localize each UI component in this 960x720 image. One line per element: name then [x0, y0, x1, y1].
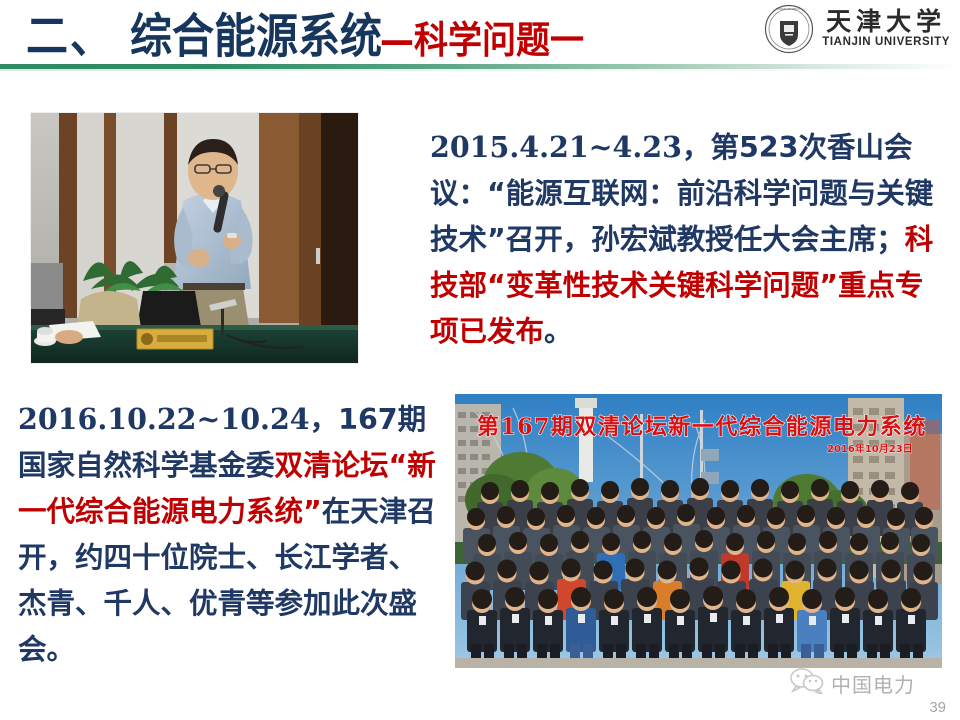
- title-subtitle-text: —科学问题一: [380, 10, 584, 64]
- university-seal-icon: TIANJIN UNIVERSITY: [764, 4, 814, 54]
- university-logo: TIANJIN UNIVERSITY 天津大学 TIANJIN UNIVERSI…: [764, 4, 950, 54]
- university-name-cn: 天津大学: [826, 9, 946, 34]
- svg-text:TIANJIN UNIVERSITY: TIANJIN UNIVERSITY: [776, 7, 802, 11]
- left-text-navy-segment-a: 自然科学基金委: [75, 449, 275, 482]
- group-photo: 第167期双清论坛新一代综合能源电力系统 2016年10月23日: [455, 394, 942, 668]
- wechat-label: 中国电力: [831, 669, 915, 698]
- wechat-watermark: 中国电力: [790, 668, 915, 699]
- slide-header: 二、 综合能源系统 —科学问题一 TIANJIN UNIVERSITY 天津大学: [0, 0, 960, 70]
- lecture-photo: [30, 112, 359, 364]
- slide-canvas: 二、 综合能源系统 —科学问题一 TIANJIN UNIVERSITY 天津大学: [0, 0, 960, 720]
- header-divider-shadow: [0, 69, 960, 71]
- right-text-end: 。: [544, 315, 573, 348]
- right-text-date: 2015.4.21~4.23: [430, 130, 682, 164]
- group-photo-banner-title: 第167期双清论坛新一代综合能源电力系统: [477, 414, 927, 440]
- university-name-en: TIANJIN UNIVERSITY: [822, 37, 950, 49]
- university-logo-words: 天津大学 TIANJIN UNIVERSITY: [822, 9, 950, 49]
- group-photo-banner-date: 2016年10月23日: [827, 442, 913, 455]
- right-text-block: 2015.4.21~4.23，第523次香山会议：“能源互联网：前沿科学问题与关…: [430, 124, 950, 355]
- left-text-date: 2016.10.22~10.24: [18, 402, 310, 436]
- right-text-navy-segment: “能源互联网：前沿科学问题与关键技术”召开，孙宏斌教授任大会主席；: [430, 177, 933, 256]
- section-number: 二、: [26, 0, 114, 67]
- page-title: 二、 综合能源系统 —科学问题一: [26, 6, 584, 67]
- title-main-text: 综合能源系统: [130, 0, 382, 67]
- page-number: 39: [929, 699, 946, 716]
- left-text-block: 2016.10.22~10.24，167期国家自然科学基金委双清论坛“新一代综合…: [18, 396, 438, 673]
- wechat-icon: [790, 668, 824, 699]
